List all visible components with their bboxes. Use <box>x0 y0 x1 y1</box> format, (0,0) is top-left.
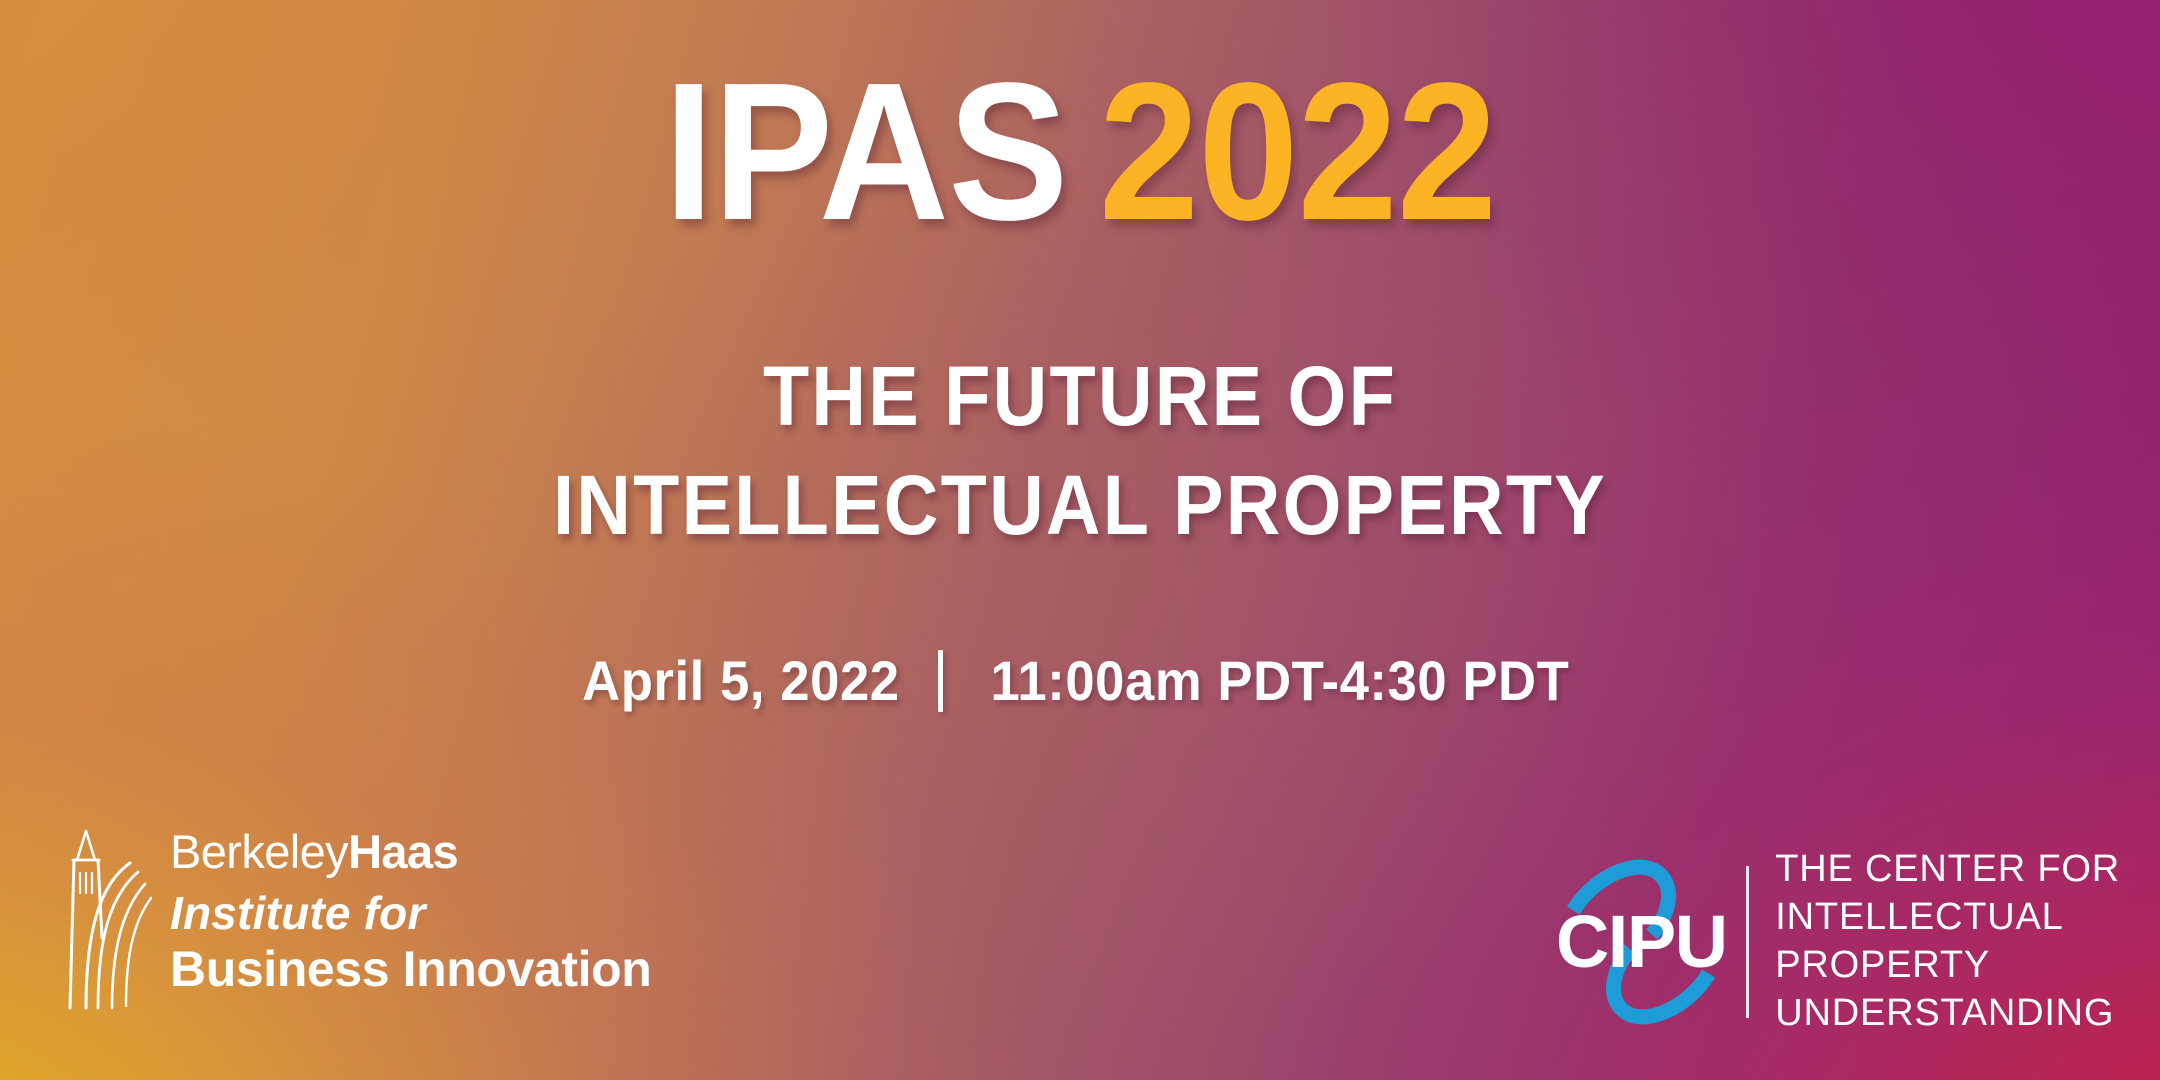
subtitle-line-2: INTELLECTUAL PROPERTY <box>108 451 2052 560</box>
haas-unit-line-1: Institute for <box>170 885 651 941</box>
subtitle-line-1: THE FUTURE OF <box>108 342 2052 451</box>
cipu-orbit-icon: CIPU <box>1550 856 1732 1028</box>
cipu-tagline-line-3: PROPERTY <box>1775 942 2120 990</box>
headline-acronym: IPAS <box>664 42 1068 261</box>
headline-block: IPAS2022 <box>0 54 2160 250</box>
event-time: 11:00am PDT-4:30 PDT <box>990 648 1569 713</box>
haas-unit-line-2: Business Innovation <box>170 941 651 997</box>
cipu-tagline-line-2: INTELLECTUAL <box>1775 894 2120 942</box>
cipu-tagline-line-1: THE CENTER FOR <box>1775 846 2120 894</box>
berkeley-haas-wordmark: BerkeleyHaas <box>170 828 651 877</box>
event-datetime: April 5, 2022 11:00am PDT-4:30 PDT <box>0 648 2160 713</box>
event-promo-banner: IPAS2022 THE FUTURE OF INTELLECTUAL PROP… <box>0 0 2160 1080</box>
campanile-tower-icon <box>52 818 164 1014</box>
cipu-tagline-line-4: UNDERSTANDING <box>1775 990 2120 1038</box>
cipu-divider <box>1746 866 1749 1018</box>
cipu-logo: CIPU THE CENTER FOR INTELLECTUAL PROPERT… <box>1550 846 2120 1038</box>
event-date: April 5, 2022 <box>582 648 899 713</box>
datetime-separator <box>938 650 943 712</box>
wordmark-berkeley: Berkeley <box>170 825 348 878</box>
berkeley-haas-wordmark-group: BerkeleyHaas Institute for Business Inno… <box>170 818 651 997</box>
wordmark-haas: Haas <box>348 825 458 878</box>
event-headline: IPAS2022 <box>86 54 2073 250</box>
subtitle-block: THE FUTURE OF INTELLECTUAL PROPERTY <box>0 342 2160 560</box>
cipu-tagline: THE CENTER FOR INTELLECTUAL PROPERTY UND… <box>1775 846 2120 1038</box>
berkeley-haas-logo: BerkeleyHaas Institute for Business Inno… <box>52 818 651 1014</box>
cipu-acronym: CIPU <box>1550 905 1732 979</box>
headline-year: 2022 <box>1099 42 1496 261</box>
